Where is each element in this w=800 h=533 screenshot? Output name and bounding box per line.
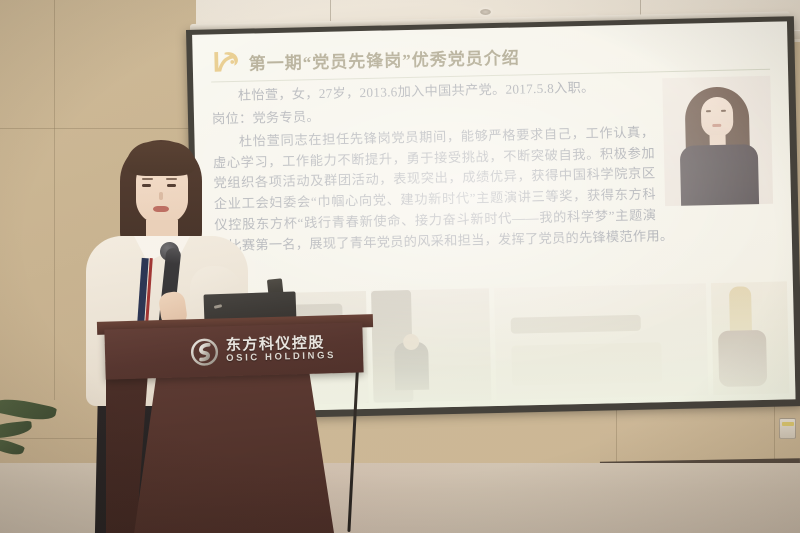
strip-photo xyxy=(711,281,790,395)
portrait-eye xyxy=(721,110,726,112)
potted-plant xyxy=(0,395,78,475)
party-emblem-icon xyxy=(210,48,241,77)
speaker-mouth xyxy=(153,206,169,212)
wall-panel-seam xyxy=(54,0,55,400)
podium-logo-en: OSIC HOLDINGS xyxy=(226,350,336,365)
strip-photo xyxy=(371,288,492,403)
portrait-face xyxy=(701,97,734,138)
speaker-nose xyxy=(159,192,163,200)
portrait-eye xyxy=(706,110,711,112)
speaker-eye xyxy=(167,184,176,187)
plant-leaf xyxy=(0,436,25,459)
portrait-torso xyxy=(680,144,759,206)
slide-body: 杜怡萱，女，27岁，2013.6加入中国共产党。2017.5.8入职。 岗位：党… xyxy=(211,74,774,258)
speaker-eyebrow xyxy=(166,178,177,180)
wall-panel-seam xyxy=(0,128,196,129)
strip-photo xyxy=(494,283,708,400)
downlight-icon xyxy=(480,9,491,15)
podium-body xyxy=(128,372,334,533)
podium-brand-logo: 东方科仪控股 OSIC HOLDINGS xyxy=(190,334,337,367)
wall-light-switch[interactable] xyxy=(779,418,796,439)
slide-portrait-photo xyxy=(662,76,773,206)
speaker-fringe xyxy=(126,142,196,176)
plant-leaf xyxy=(0,421,33,440)
speaker-eye xyxy=(142,184,151,187)
portrait-mouth xyxy=(712,124,721,127)
slide-title: 第一期“党员先锋岗”优秀党员介绍 xyxy=(248,43,519,74)
podium-logo-text: 东方科仪控股 OSIC HOLDINGS xyxy=(226,335,337,366)
speaker-eyebrow xyxy=(142,178,153,180)
presentation-photo-scene: 第一期“党员先锋岗”优秀党员介绍 杜怡萱，女，27岁，2013.6加入中国共产党… xyxy=(0,0,800,533)
osic-swirl-logo-icon xyxy=(190,337,220,367)
